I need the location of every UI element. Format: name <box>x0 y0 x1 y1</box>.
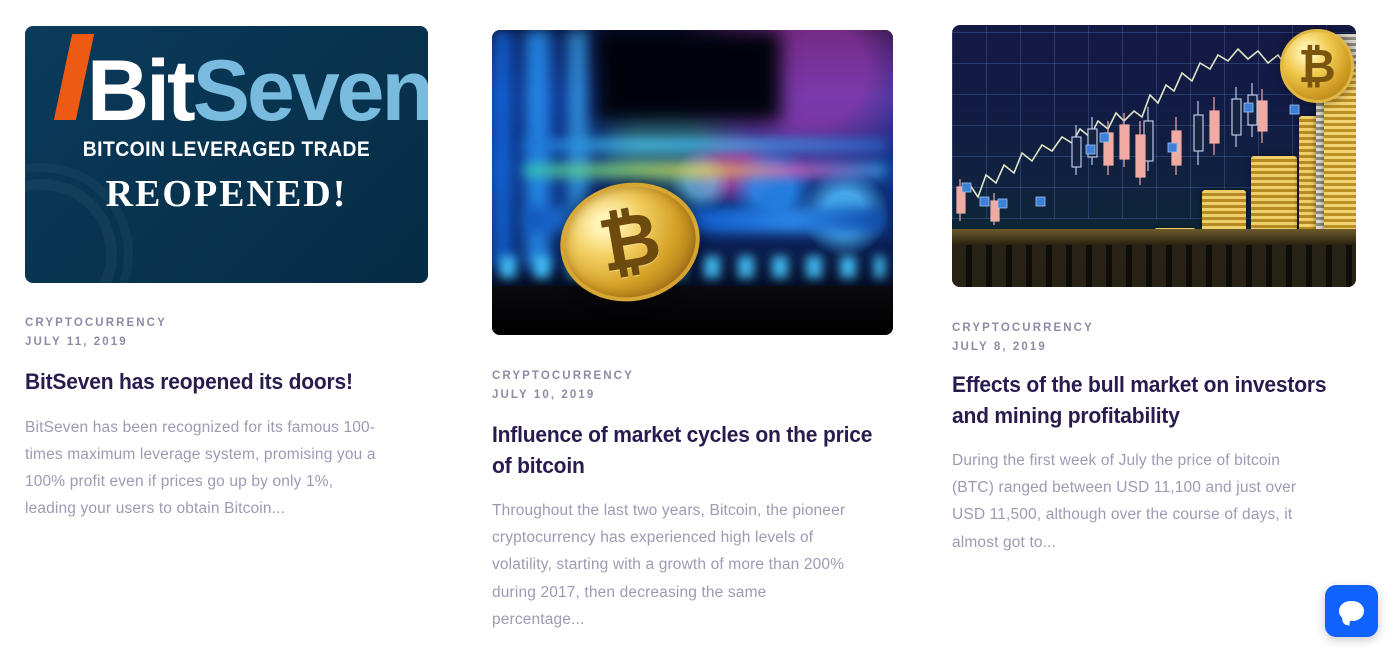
desk-shelf <box>952 229 1356 245</box>
post-excerpt: During the first week of July the price … <box>952 447 1324 556</box>
post-excerpt: Throughout the last two years, Bitcoin, … <box>492 497 858 633</box>
blurred-data-row <box>524 164 885 177</box>
bitcoin-coin-icon: ₿ <box>1280 29 1354 103</box>
post-title-link[interactable]: Effects of the bull market on investors … <box>952 370 1344 430</box>
post-thumbnail-link[interactable] <box>492 30 893 335</box>
blurred-dark-panel <box>596 30 780 122</box>
banner-headline: REOPENED! <box>25 172 428 216</box>
candlestick-chart-image: ₿ <box>952 25 1356 287</box>
bitcoin-trading-screen-image <box>492 30 893 335</box>
logo-text-bit: Bit <box>87 48 193 134</box>
bitseven-promo-banner-image: Bit Seven BITCOIN LEVERAGED TRADE REOPEN… <box>25 26 428 283</box>
post-title-link[interactable]: BitSeven has reopened its doors! <box>25 367 409 397</box>
post-category[interactable]: CRYPTOCURRENCY <box>25 314 427 333</box>
post-title-link[interactable]: Influence of market cycles on the price … <box>492 420 876 480</box>
post-thumbnail-link[interactable]: Bit Seven BITCOIN LEVERAGED TRADE REOPEN… <box>25 26 428 283</box>
keyboard-surface <box>952 245 1356 287</box>
chat-launcher-button[interactable] <box>1325 585 1378 637</box>
post-card: Bit Seven BITCOIN LEVERAGED TRADE REOPEN… <box>0 0 467 655</box>
post-grid: Bit Seven BITCOIN LEVERAGED TRADE REOPEN… <box>0 0 1397 655</box>
logo-text-seven: Seven <box>193 48 428 134</box>
chat-bubble-icon <box>1339 601 1364 621</box>
bitseven-logo: Bit Seven <box>63 26 428 134</box>
post-excerpt: BitSeven has been recognized for its fam… <box>25 414 385 523</box>
desk-surface <box>492 286 893 335</box>
post-date: JULY 11, 2019 <box>25 333 427 352</box>
post-category[interactable]: CRYPTOCURRENCY <box>492 367 894 386</box>
post-card: CRYPTOCURRENCY JULY 10, 2019 Influence o… <box>467 0 934 655</box>
post-date: JULY 8, 2019 <box>952 338 1362 357</box>
post-thumbnail-link[interactable]: ₿ <box>952 25 1356 287</box>
post-date: JULY 10, 2019 <box>492 386 894 405</box>
blurred-data-row <box>524 140 885 150</box>
post-card: ₿ CRYPTOCURRENCY JULY 8, 2019 Effects of… <box>934 0 1397 655</box>
post-category[interactable]: CRYPTOCURRENCY <box>952 319 1362 338</box>
banner-subtitle: BITCOIN LEVERAGED TRADE <box>41 138 412 162</box>
